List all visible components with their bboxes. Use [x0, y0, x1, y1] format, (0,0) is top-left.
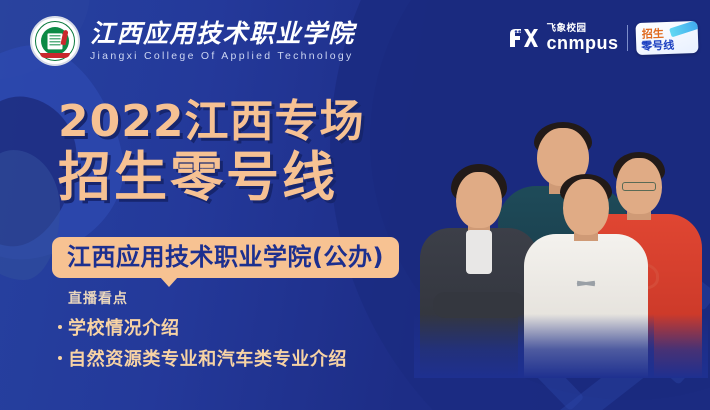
badge-stripe [669, 21, 698, 37]
poster-header: 江西应用技术职业学院 Jiangxi College Of Applied Te… [0, 0, 710, 84]
bubble-tail [160, 277, 178, 287]
speaker-face [456, 172, 502, 228]
school-name-block: 江西应用技术职业学院 Jiangxi College Of Applied Te… [90, 21, 355, 62]
speaker-white-tee-front [524, 172, 648, 378]
zhaosheng-badge: 招生 零号线 [635, 21, 698, 55]
speakers-group-photo [420, 78, 702, 378]
fx-name-cn: 飞象校园 [546, 24, 586, 34]
speaker-crossed-arms [433, 292, 525, 318]
list-item: 自然资源类专业和汽车类专业介绍 [68, 345, 347, 371]
highlight-item-label: 自然资源类专业和汽车类专业介绍 [68, 345, 347, 371]
badge-line2: 零号线 [641, 37, 675, 54]
bullet-dot-icon [58, 356, 62, 360]
live-stream-promo-poster: 江西应用技术职业学院 Jiangxi College Of Applied Te… [0, 0, 710, 410]
highlight-item-label: 学校情况介绍 [68, 314, 180, 340]
headline-line-2: 招生零号线 [58, 151, 364, 204]
fx-logo-icon [507, 26, 541, 50]
highlights-title: 直播看点 [68, 288, 347, 308]
speaker-shirt [466, 230, 492, 274]
school-name-bubble-wrap: 江西应用技术职业学院(公办) [52, 237, 399, 278]
school-name-bubble: 江西应用技术职业学院(公办) [52, 237, 399, 278]
list-item: 学校情况介绍 [68, 314, 347, 340]
headline-line-1: 2022江西专场 [58, 100, 364, 144]
fx-name-en: cnmpus [546, 34, 618, 52]
speaker-fade-overlay [518, 314, 654, 378]
school-name-bubble-text: 江西应用技术职业学院(公办) [67, 243, 384, 271]
speaker-face [563, 179, 609, 235]
brand-logo-lockup: 飞象校园 cnmpus 招生 零号线 [507, 22, 698, 54]
school-name-cn: 江西应用技术职业学院 [90, 21, 355, 49]
school-name-en: Jiangxi College Of Applied Technology [90, 50, 355, 62]
fx-wordmark: 飞象校园 cnmpus [546, 24, 618, 53]
school-logo-lockup: 江西应用技术职业学院 Jiangxi College Of Applied Te… [30, 16, 355, 66]
bullet-dot-icon [58, 325, 62, 329]
live-highlights: 直播看点 学校情况介绍 自然资源类专业和汽车类专业介绍 [68, 288, 347, 371]
poster-headline: 2022江西专场 招生零号线 [58, 100, 364, 204]
jiangxi-college-emblem-icon [30, 16, 80, 66]
brand-divider [627, 25, 629, 51]
emblem-base [40, 53, 70, 58]
fx-campus-logo: 飞象校园 cnmpus [507, 24, 618, 53]
